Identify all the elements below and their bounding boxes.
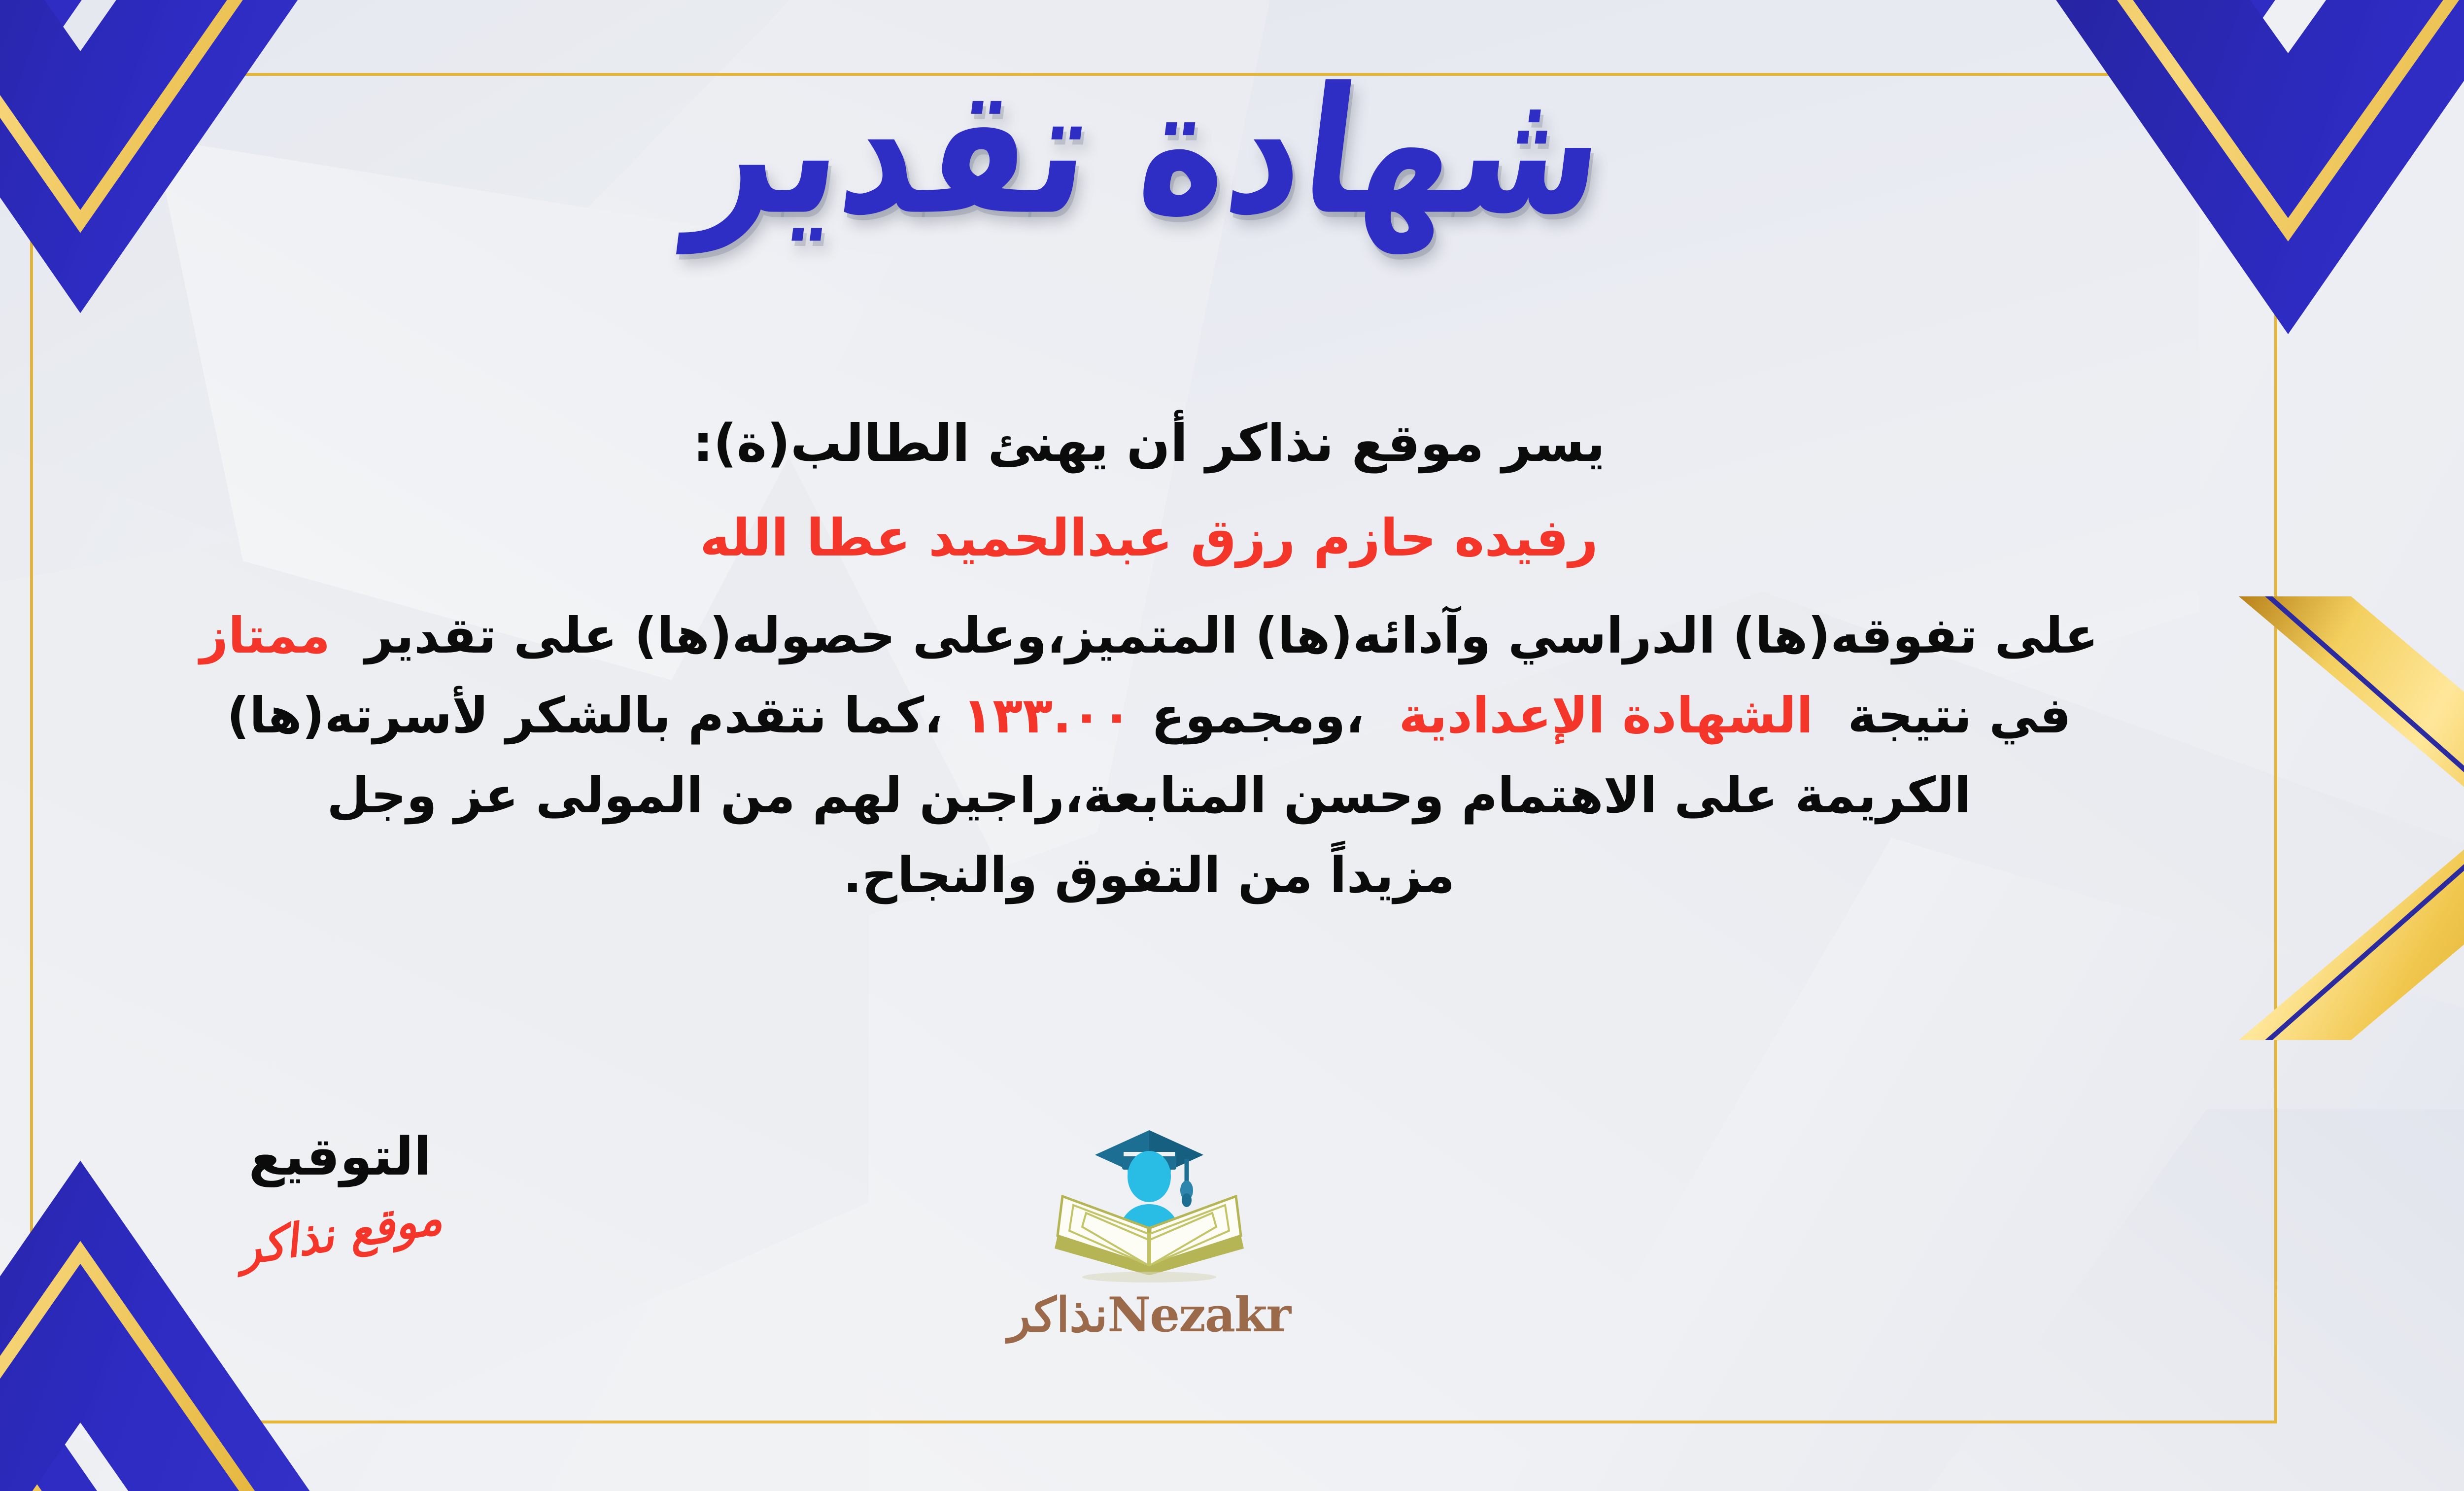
certificate-name: الشهادة الإعدادية: [1399, 687, 1813, 744]
grade-value: ممتاز: [200, 607, 330, 664]
signature-label: التوقيع: [177, 1126, 503, 1187]
result-prefix: في نتيجة: [1848, 687, 2071, 744]
family-thanks-line: الكريمة على الاهتمام وحسن المتابعة،راجين…: [46, 758, 2252, 833]
signature-mark: موقع نذاكر: [235, 1191, 445, 1276]
certificate-title-area: شهادة تقدير: [0, 74, 2464, 229]
signature-block: التوقيع موقع نذاكر: [177, 1126, 503, 1260]
certificate-body: يسر موقع نذاكر أن يهنئ الطالب(ة): رفيده …: [46, 404, 2252, 918]
total-score: ١٣٣.٠٠: [962, 687, 1131, 744]
logo-brand-text: Nezakrنذاكر: [962, 1287, 1336, 1343]
achievement-text: على تفوقه(ها) الدراسي وآدائه(ها) المتميز…: [365, 607, 2098, 664]
total-label: ،ومجموع: [1151, 687, 1364, 744]
intro-line: يسر موقع نذاكر أن يهنئ الطالب(ة):: [46, 404, 2252, 482]
certificate-page: شهادة تقدير يسر موقع نذاكر أن يهنئ الطال…: [0, 0, 2464, 1491]
graduation-book-icon: [1041, 1121, 1258, 1284]
result-line: في نتيجةالشهادة الإعدادية،ومجموع١٣٣.٠٠،ك…: [46, 678, 2252, 753]
certificate-footer: التوقيع موقع نذاكر: [0, 1126, 2464, 1432]
student-name: رفيده حازم رزق عبدالحميد عطا الله: [46, 499, 2252, 577]
achievement-line: على تفوقه(ها) الدراسي وآدائه(ها) المتميز…: [46, 598, 2252, 673]
closing-line: مزيداً من التفوق والنجاح.: [46, 838, 2252, 913]
thanks-text: ،كما نتقدم بالشكر لأسرته(ها): [227, 687, 943, 744]
nezakr-logo: Nezakrنذاكر: [962, 1121, 1336, 1343]
certificate-title: شهادة تقدير: [684, 60, 1614, 243]
